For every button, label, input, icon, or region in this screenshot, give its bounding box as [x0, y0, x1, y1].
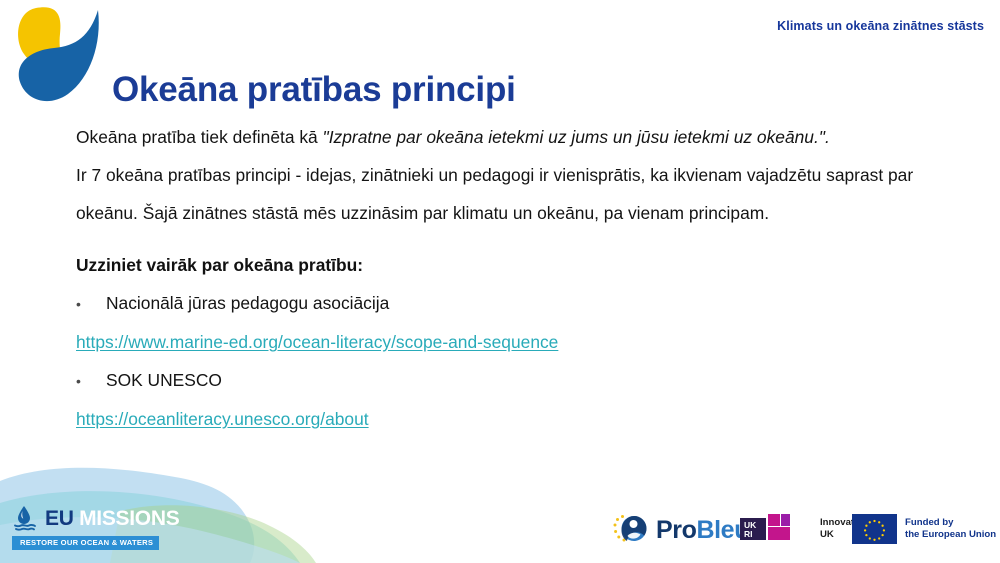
probleu-wordmark: ProBleu: [656, 518, 749, 543]
eu-flag-icon: [852, 514, 897, 544]
header-label: Klimats un okeāna zinātnes stāsts: [777, 19, 984, 33]
funded-line2: the European Union: [905, 529, 996, 541]
list-item: • SOK UNESCO: [76, 361, 921, 400]
link-oceanliteracy-unesco[interactable]: https://oceanliteracy.unesco.org/about: [76, 409, 369, 429]
list-item: • Nacionālā jūras pedagogu asociācija: [76, 284, 921, 323]
slide: Klimats un okeāna zinātnes stāsts Okeāna…: [0, 0, 1000, 563]
link-row: https://oceanliteracy.unesco.org/about: [76, 400, 921, 438]
eu-missions-missions-text: MISSIONS: [74, 507, 180, 530]
probleu-swirl-icon: [613, 513, 649, 547]
funded-line1: Funded by: [905, 517, 996, 529]
funded-by-eu-logo: Funded by the European Union: [852, 513, 996, 545]
innovate-uk-logo: UK RI Innovate UK: [740, 512, 859, 546]
list-item-label: SOK UNESCO: [106, 361, 222, 399]
water-drop-icon: [12, 505, 38, 533]
funded-by-eu-text: Funded by the European Union: [905, 517, 996, 540]
slide-content: Okeāna pratība tiek definēta kā "Izpratn…: [76, 118, 921, 438]
link-row: https://www.marine-ed.org/ocean-literacy…: [76, 323, 921, 361]
eu-missions-wordmark-row: EU MISSIONS: [12, 505, 180, 533]
page-title: Okeāna pratības principi: [112, 70, 516, 110]
definition-quote: "Izpratne par okeāna ietekmi uz jums un …: [323, 127, 830, 147]
definition-lead-text: Okeāna pratība tiek definēta kā: [76, 127, 323, 147]
probleu-pro-text: Pro: [656, 516, 696, 544]
ukri-mark-icon: UK RI: [740, 512, 812, 546]
link-marine-ed[interactable]: https://www.marine-ed.org/ocean-literacy…: [76, 332, 558, 352]
learn-more-heading: Uzziniet vairāk par okeāna pratību:: [76, 246, 921, 284]
probleu-logo: ProBleu: [613, 512, 749, 548]
eu-missions-wordmark: EU MISSIONS: [45, 508, 179, 529]
eu-missions-eu-text: EU: [45, 507, 74, 530]
eu-missions-tagline-banner: RESTORE OUR OCEAN & WATERS: [12, 536, 159, 550]
definition-paragraph: Okeāna pratība tiek definēta kā "Izpratn…: [76, 118, 921, 156]
svg-text:RI: RI: [744, 529, 753, 539]
brand-logo: [2, 0, 114, 110]
bullet-icon: •: [76, 285, 106, 323]
bullet-icon: •: [76, 362, 106, 400]
principles-paragraph: Ir 7 okeāna pratības principi - idejas, …: [76, 156, 921, 232]
list-item-label: Nacionālā jūras pedagogu asociācija: [106, 284, 389, 322]
eu-missions-logo: EU MISSIONS RESTORE OUR OCEAN & WATERS: [12, 503, 180, 551]
